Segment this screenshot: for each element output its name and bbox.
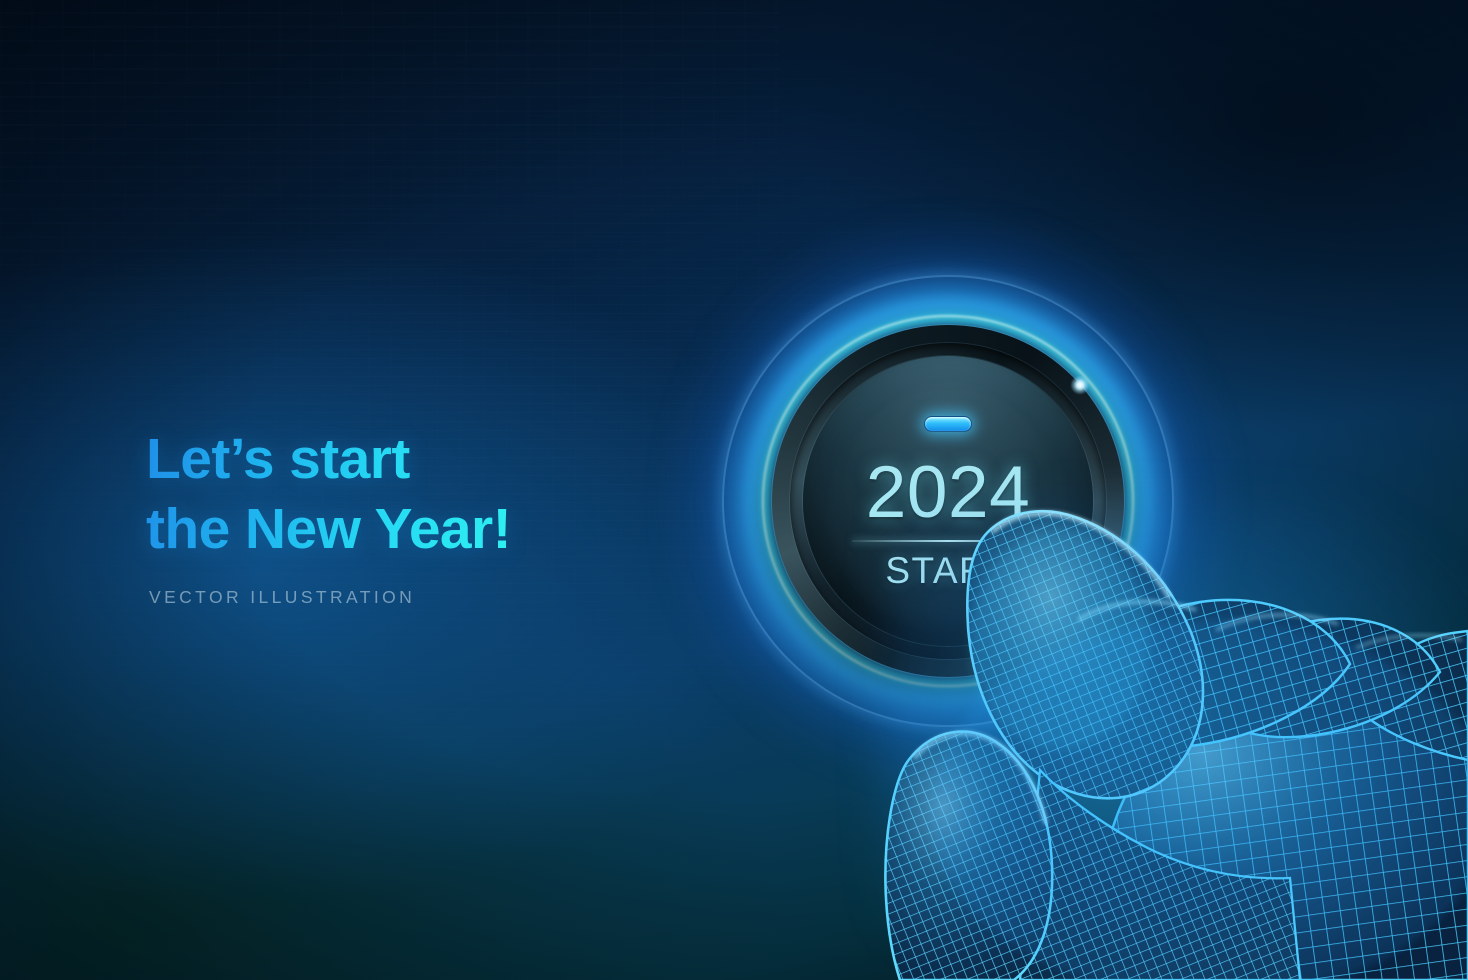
illustration-canvas: Let’s start the New Year! VECTOR ILLUSTR…: [0, 0, 1468, 980]
headline-block: Let’s start the New Year! VECTOR ILLUSTR…: [146, 425, 511, 608]
button-action-label: START: [885, 552, 1010, 589]
start-button-assembly[interactable]: 2024 START: [663, 216, 1233, 786]
subtitle: VECTOR ILLUSTRATION: [149, 587, 511, 608]
bezel-sparkle-icon: [1071, 376, 1089, 394]
led-indicator-icon: [924, 416, 972, 432]
headline-line-2: the New Year!: [146, 495, 511, 565]
headline-line-1: Let’s start: [146, 427, 410, 491]
button-year-label: 2024: [866, 456, 1030, 529]
page-title: Let’s start the New Year!: [146, 425, 511, 564]
button-face[interactable]: 2024 START: [803, 356, 1093, 646]
button-divider: [852, 540, 1044, 542]
